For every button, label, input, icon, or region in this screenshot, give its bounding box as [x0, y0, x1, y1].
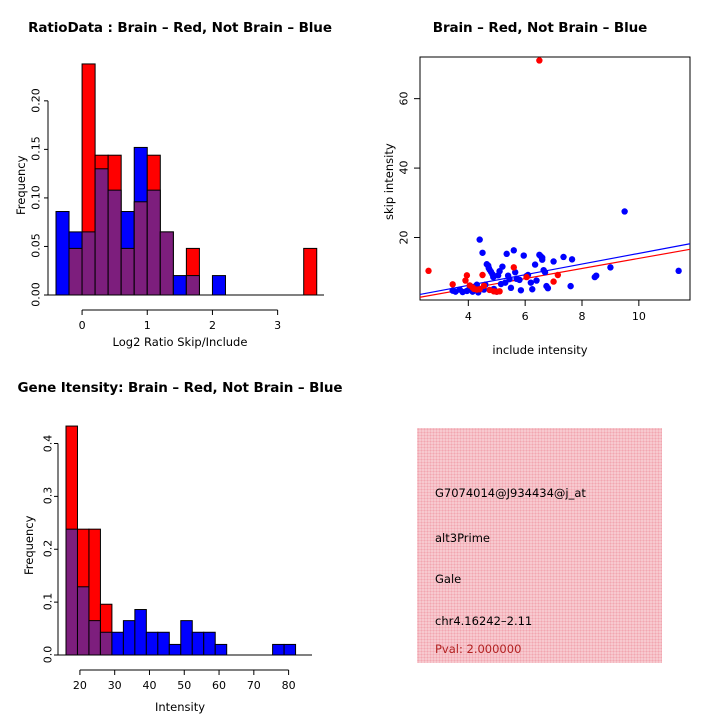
hist-bar-overlap: [100, 632, 111, 655]
figure-canvas: RatioData : Brain – Red, Not Brain – Blu…: [0, 0, 720, 720]
gene-histogram-ytick-label: 0.2: [42, 537, 55, 561]
gene-histogram-xtick-label: 70: [242, 679, 266, 692]
scatter-point: [569, 256, 575, 262]
scatter-point: [593, 273, 599, 279]
hist-bar: [215, 644, 226, 655]
scatter-point: [675, 268, 681, 274]
info-panel: G7074014@J934434@j_atalt3PrimeGalechr4.1…: [417, 428, 662, 663]
scatter-ytick-label: 40: [398, 158, 411, 178]
gene-histogram-xtick-label: 50: [172, 679, 196, 692]
scatter-point: [555, 272, 561, 278]
scatter-point: [533, 277, 539, 283]
hist-bar: [169, 644, 180, 655]
hist-bar: [123, 621, 134, 655]
scatter-point: [545, 285, 551, 291]
scatter-point: [542, 269, 548, 275]
hist-bar: [112, 632, 123, 655]
scatter-xtick-label: 6: [515, 310, 535, 323]
scatter-point: [503, 251, 509, 257]
scatter-point: [479, 250, 485, 256]
scatter-xtick-label: 10: [629, 310, 649, 323]
hist-bar: [192, 632, 203, 655]
hist-bar: [204, 632, 215, 655]
gene-histogram-xlabel: Intensity: [0, 700, 360, 714]
info-line: Gale: [435, 572, 461, 586]
scatter-point: [532, 261, 538, 267]
hist-bar-overlap: [66, 529, 77, 655]
gene-histogram-xtick-label: 30: [103, 679, 127, 692]
gene-histogram-xtick-label: 40: [137, 679, 161, 692]
scatter-point: [511, 264, 517, 270]
hist-bar: [284, 644, 295, 655]
scatter-point: [518, 287, 524, 293]
hist-bar-overlap: [77, 587, 88, 655]
gene-histogram-ytick-label: 0.3: [42, 484, 55, 508]
scatter-point: [506, 276, 512, 282]
scatter-point: [511, 247, 517, 253]
hist-bar: [158, 632, 169, 655]
scatter-point: [476, 236, 482, 242]
gene-histogram-xtick-label: 20: [68, 679, 92, 692]
scatter-point: [499, 263, 505, 269]
scatter-ytick-label: 60: [398, 88, 411, 108]
scatter-point: [481, 283, 487, 289]
scatter-point: [425, 268, 431, 274]
scatter-point: [479, 272, 485, 278]
scatter-point: [560, 254, 566, 260]
gene-histogram-xtick-label: 60: [207, 679, 231, 692]
scatter-point: [550, 278, 556, 284]
gene-histogram-xtick-label: 80: [277, 679, 301, 692]
scatter-point: [536, 57, 542, 63]
scatter-point: [550, 258, 556, 264]
hist-bar: [135, 610, 146, 655]
scatter-point: [528, 279, 534, 285]
gene-histogram-ytick-label: 0.0: [42, 643, 55, 667]
scatter-point: [539, 257, 545, 263]
scatter-point: [516, 277, 522, 283]
info-line: G7074014@J934434@j_at: [435, 486, 586, 500]
scatter-point: [521, 252, 527, 258]
scatter-point: [508, 285, 514, 291]
gene-histogram-ylabel: Frequency: [22, 516, 36, 575]
scatter-xtick-label: 8: [572, 310, 592, 323]
info-line: alt3Prime: [435, 531, 490, 545]
scatter-point: [464, 272, 470, 278]
hist-bar: [146, 632, 157, 655]
hist-bar: [273, 644, 284, 655]
scatter-point: [567, 283, 573, 289]
hist-bar-overlap: [89, 621, 100, 655]
scatter-point: [621, 208, 627, 214]
scatter-point: [529, 286, 535, 292]
scatter-xlabel: include intensity: [360, 343, 720, 357]
pval-label: Pval: 2.000000: [435, 642, 521, 656]
gene-histogram-ytick-label: 0.1: [42, 590, 55, 614]
gene-histogram-title: Gene Itensity: Brain – Red, Not Brain – …: [0, 380, 360, 396]
scatter-ylabel: skip intensity: [382, 143, 396, 220]
hist-bar: [181, 621, 192, 655]
scatter-title: Brain – Red, Not Brain – Blue: [360, 20, 720, 36]
info-line: chr4.16242–2.11: [435, 614, 532, 628]
gene-histogram-ytick-label: 0.4: [42, 431, 55, 455]
scatter-xtick-label: 4: [458, 310, 478, 323]
scatter-point: [449, 281, 455, 287]
scatter-point: [523, 274, 529, 280]
scatter-panel: [0, 0, 720, 360]
scatter-point: [607, 264, 613, 270]
scatter-point: [496, 288, 502, 294]
scatter-ytick-label: 20: [398, 227, 411, 247]
